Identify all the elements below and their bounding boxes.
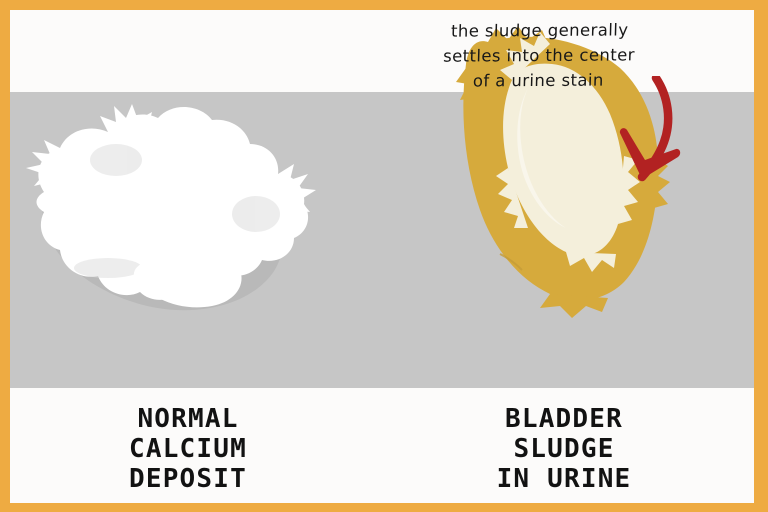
label-normal-calcium-deposit: NORMAL CALCIUM DEPOSIT (38, 404, 338, 494)
calcium-deposit-illustration (16, 62, 326, 322)
label-band: NORMAL CALCIUM DEPOSIT BLADDER SLUDGE IN… (10, 388, 754, 503)
label-bladder-sludge-in-urine: BLADDER SLUDGE IN URINE (414, 404, 714, 494)
curved-down-arrow-icon (598, 76, 708, 196)
white-calcium-blob (26, 104, 316, 307)
infographic-card: the sludge generally settles into the ce… (0, 0, 768, 512)
illustration-canvas: the sludge generally settles into the ce… (10, 10, 754, 503)
